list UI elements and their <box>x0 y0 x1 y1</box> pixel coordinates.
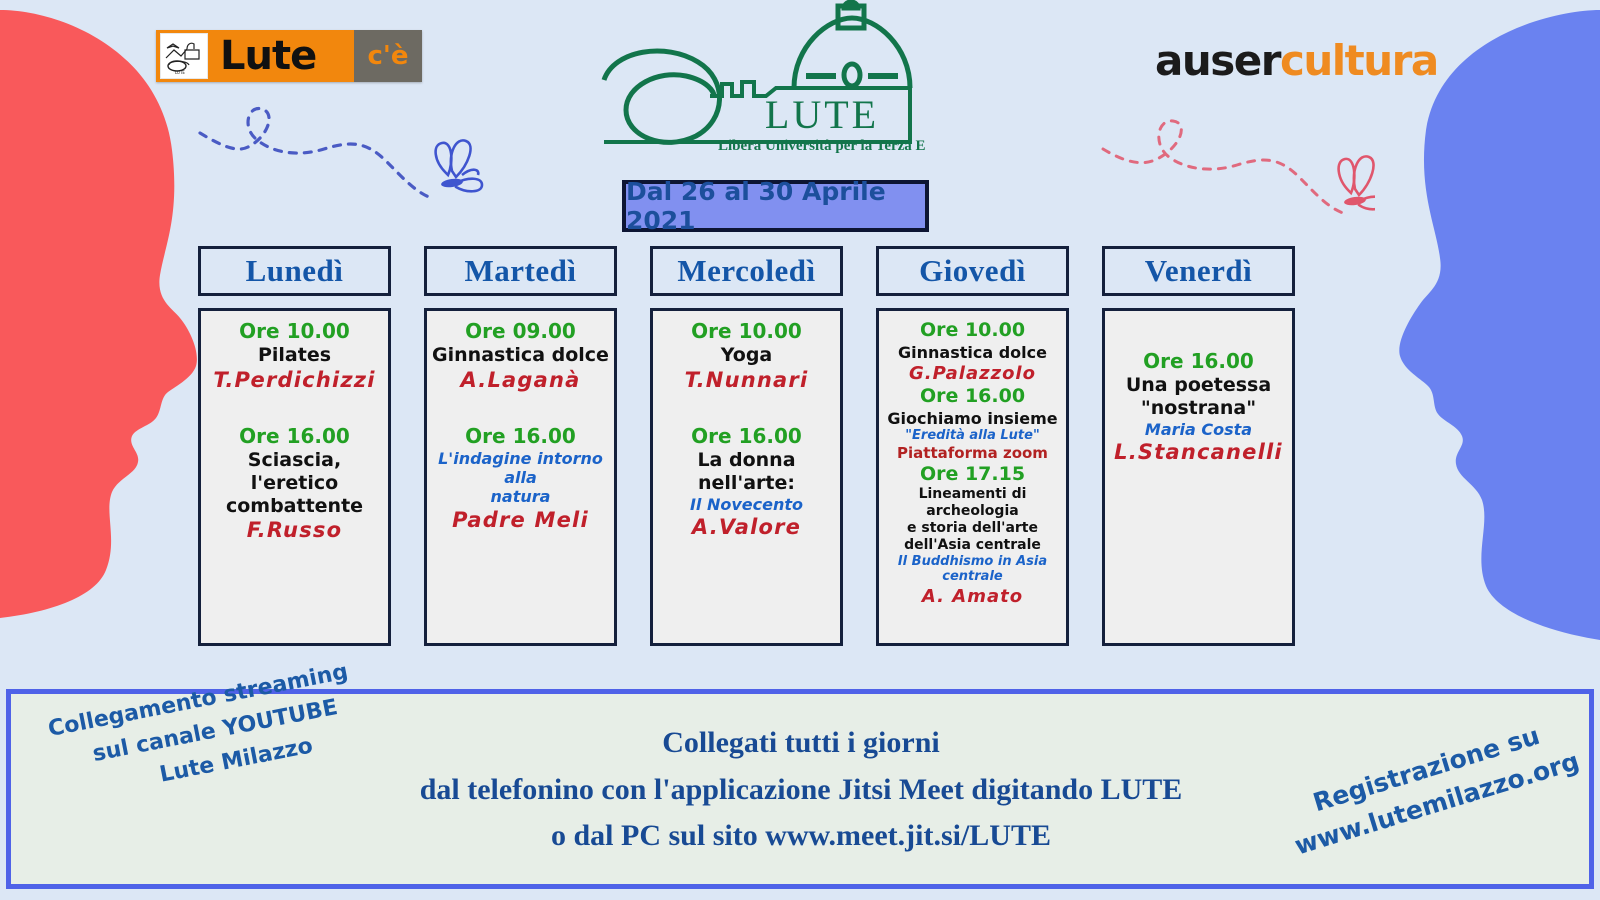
day-name-label: Venerdì <box>1145 253 1252 289</box>
event-time: Ore 16.00 <box>883 385 1062 409</box>
day-name-label: Giovedì <box>919 253 1026 289</box>
event-speaker: T.Perdichizzi <box>205 367 384 394</box>
event-title: La donna nell'arte: <box>657 449 836 495</box>
event-entry: Ore 10.00YogaT.Nunnari <box>657 319 836 394</box>
day-events-martedì: Ore 09.00Ginnastica dolceA.LaganàOre 16.… <box>424 308 617 646</box>
footer-line: o dal PC sul sito www.meet.jit.si/LUTE <box>341 813 1261 860</box>
day-name-label: Lunedì <box>246 253 344 289</box>
event-time: Ore 10.00 <box>205 319 384 344</box>
day-column-venerdì: Venerdì Ore 16.00Una poetessa "nostrana"… <box>1102 246 1295 646</box>
footer-connection-info: Collegati tutti i giornidal telefonino c… <box>341 720 1261 860</box>
event-entry: Ore 10.00Ginnastica dolceG.Palazzolo <box>883 319 1062 385</box>
event-subtitle: Maria Costa <box>1109 420 1288 439</box>
event-speaker: A.Laganà <box>431 367 610 394</box>
blue-face-profile-icon <box>1370 0 1600 700</box>
event-time: Ore 16.00 <box>431 424 610 449</box>
footer-line: Collegati tutti i giorni <box>341 720 1261 767</box>
event-title: Ginnastica dolce <box>431 344 610 367</box>
event-speaker: A.Valore <box>657 514 836 541</box>
event-speaker: T.Nunnari <box>657 367 836 394</box>
event-title: Giochiamo insieme <box>883 409 1062 428</box>
footer-streaming-note: Collegamento streamingsul canale YOUTUBE… <box>33 653 376 813</box>
cultura-word: cultura <box>1280 36 1438 85</box>
weekly-schedule-grid: Lunedì Ore 10.00PilatesT.PerdichizziOre … <box>198 246 1378 646</box>
event-entry: Ore 10.00PilatesT.Perdichizzi <box>205 319 384 394</box>
event-subtitle: "Eredità alla Lute" <box>883 428 1062 444</box>
footer-line: dal telefonino con l'applicazione Jitsi … <box>341 767 1261 814</box>
event-subtitle: Il Buddhismo in Asia centrale <box>883 554 1062 585</box>
footer-banner: Collegamento streamingsul canale YOUTUBE… <box>6 689 1594 889</box>
event-title: Ginnastica dolce <box>883 343 1062 362</box>
event-speaker: A. Amato <box>883 585 1062 608</box>
event-time: Ore 09.00 <box>431 319 610 344</box>
event-entry: Ore 16.00L'indagine intorno allanaturaPa… <box>431 424 610 534</box>
lute-logo-subtitle: Libera Università per la Terza Età <box>718 138 925 154</box>
event-title: e storia dell'arte <box>883 520 1062 537</box>
day-name-label: Mercoledì <box>677 253 815 289</box>
auser-word: auser <box>1155 36 1280 85</box>
date-banner: Dal 26 al 30 Aprile 2021 <box>622 180 929 232</box>
event-note: Piattaforma zoom <box>883 444 1062 463</box>
event-time: Ore 10.00 <box>657 319 836 344</box>
blue-butterfly-trail-icon <box>190 105 490 215</box>
event-entry: Ore 16.00La donna nell'arte:Il Novecento… <box>657 424 836 541</box>
day-events-giovedì: Ore 10.00Ginnastica dolceG.PalazzoloOre … <box>876 308 1069 646</box>
event-title: Sciascia, l'eretico <box>205 449 384 495</box>
day-header-lunedì: Lunedì <box>198 246 391 296</box>
event-time: Ore 16.00 <box>657 424 836 449</box>
event-subtitle: L'indagine intorno alla <box>431 449 610 487</box>
event-title: dell'Asia centrale <box>883 537 1062 554</box>
event-title: Lineamenti di archeologia <box>883 486 1062 520</box>
day-header-venerdì: Venerdì <box>1102 246 1295 296</box>
event-time: Ore 16.00 <box>1109 349 1288 374</box>
day-header-giovedì: Giovedì <box>876 246 1069 296</box>
event-speaker: G.Palazzolo <box>883 362 1062 385</box>
event-title: Pilates <box>205 344 384 367</box>
day-column-giovedì: Giovedì Ore 10.00Ginnastica dolceG.Palaz… <box>876 246 1069 646</box>
event-entry: Ore 09.00Ginnastica dolceA.Laganà <box>431 319 610 394</box>
event-speaker: Padre Meli <box>431 507 610 534</box>
event-entry: Ore 16.00Giochiamo insieme"Eredità alla … <box>883 385 1062 462</box>
day-header-mercoledì: Mercoledì <box>650 246 843 296</box>
event-title: combattente <box>205 495 384 518</box>
svg-text:LUTE: LUTE <box>175 70 185 75</box>
footer-registration-note: Registrazione suwww.lutemilazzo.org <box>1263 704 1600 870</box>
event-time: Ore 17.15 <box>883 463 1062 487</box>
day-name-label: Martedì <box>465 253 577 289</box>
event-speaker: L.Stancanelli <box>1109 439 1288 466</box>
auser-cultura-logo: ausercultura <box>1155 40 1438 82</box>
pink-butterfly-trail-icon <box>1065 105 1375 225</box>
lute-ce-tag: c'è <box>354 30 422 82</box>
day-column-martedì: Martedì Ore 09.00Ginnastica dolceA.Lagan… <box>424 246 617 646</box>
day-column-mercoledì: Mercoledì Ore 10.00YogaT.NunnariOre 16.0… <box>650 246 843 646</box>
event-time: Ore 16.00 <box>205 424 384 449</box>
event-time: Ore 10.00 <box>883 319 1062 343</box>
day-events-venerdì: Ore 16.00Una poetessa "nostrana"Maria Co… <box>1102 308 1295 646</box>
event-entry: Ore 16.00Una poetessa "nostrana"Maria Co… <box>1109 349 1288 466</box>
event-entry: Ore 17.15Lineamenti di archeologiae stor… <box>883 463 1062 609</box>
lute-logo-title: LUTE <box>765 92 879 137</box>
lute-ce-logo: LUTE Lute c'è <box>156 30 422 82</box>
lute-main-logo: LUTE Libera Università per la Terza Età <box>580 0 925 168</box>
poster-canvas: LUTE Lute c'è LUTE Libera Università per <box>0 0 1600 900</box>
event-subtitle: natura <box>431 487 610 506</box>
event-speaker: F.Russo <box>205 517 384 544</box>
lute-seagull-dome-icon: LUTE <box>160 33 208 79</box>
date-banner-text: Dal 26 al 30 Aprile 2021 <box>626 177 925 235</box>
event-subtitle: Il Novecento <box>657 495 836 514</box>
day-events-mercoledì: Ore 10.00YogaT.NunnariOre 16.00La donna … <box>650 308 843 646</box>
day-header-martedì: Martedì <box>424 246 617 296</box>
event-title: Una poetessa "nostrana" <box>1109 374 1288 420</box>
event-title: Yoga <box>657 344 836 367</box>
day-events-lunedì: Ore 10.00PilatesT.PerdichizziOre 16.00Sc… <box>198 308 391 646</box>
event-entry: Ore 16.00Sciascia, l'ereticocombattenteF… <box>205 424 384 545</box>
lute-ce-word: Lute <box>208 36 354 76</box>
day-column-lunedì: Lunedì Ore 10.00PilatesT.PerdichizziOre … <box>198 246 391 646</box>
